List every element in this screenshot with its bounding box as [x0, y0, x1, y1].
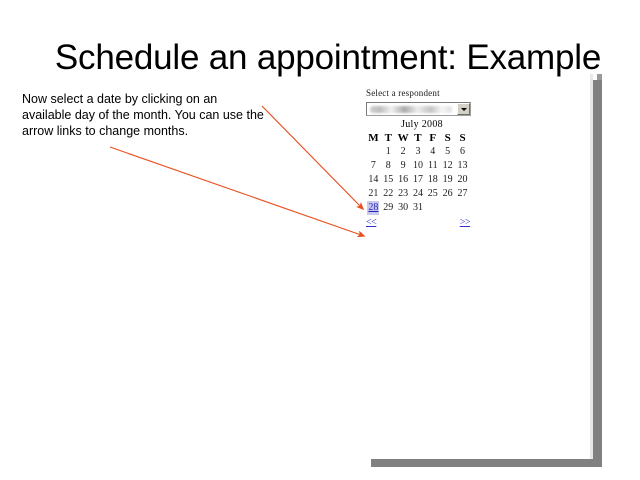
respondent-label: Select a respondent	[366, 88, 478, 99]
calendar-weekday-header: T	[411, 131, 426, 145]
calendar-weekday-header: F	[425, 131, 440, 145]
calendar-day-cell: 12	[440, 159, 455, 173]
calendar-day-cell: 22	[381, 187, 396, 201]
calendar-weekday-header: S	[440, 131, 455, 145]
calendar-day-cell: 17	[411, 173, 426, 187]
calendar-day-cell: 25	[425, 187, 440, 201]
calendar-weekday-header: S	[455, 131, 470, 145]
calendar-weekday-header: W	[396, 131, 411, 145]
page-shadow-right	[593, 80, 602, 466]
calendar-day-cell	[455, 201, 470, 215]
page-title: Schedule an appointment: Example	[28, 36, 628, 82]
calendar-day-cell: 15	[381, 173, 396, 187]
next-month-link[interactable]: >>	[460, 217, 470, 229]
instruction-text: Now select a date by clicking on an avai…	[22, 91, 270, 140]
calendar-day-cell: 23	[396, 187, 411, 201]
calendar-week-row: 14 15 16 17 18 19 20	[366, 173, 470, 187]
calendar-day-cell: 30	[396, 201, 411, 215]
calendar-day-link-selected[interactable]: 28	[367, 201, 379, 215]
calendar-day-cell: 19	[440, 173, 455, 187]
slide-canvas: Schedule an appointment: Example Now sel…	[0, 0, 640, 480]
calendar-weekday-row: M T W T F S S	[366, 131, 470, 145]
prev-month-link[interactable]: <<	[366, 217, 376, 229]
calendar-day-cell: 3	[411, 145, 426, 159]
page-edge-right	[590, 74, 593, 460]
calendar-day-cell: 13	[455, 159, 470, 173]
calendar-day-cell: 10	[411, 159, 426, 173]
calendar-day-cell: 20	[455, 173, 470, 187]
calendar-navigation: << >>	[366, 217, 470, 229]
calendar-day-cell: 24	[411, 187, 426, 201]
calendar-day-cell: 18	[425, 173, 440, 187]
calendar-table: M T W T F S S 1 2 3 4 5 6	[366, 131, 470, 215]
calendar-day-cell: 31	[411, 201, 426, 215]
calendar-weekday-header: T	[381, 131, 396, 145]
calendar-week-row: 21 22 23 24 25 26 27	[366, 187, 470, 201]
calendar-widget: Select a respondent July 2008 M T W T F …	[366, 88, 478, 229]
calendar-day-cell: 11	[425, 159, 440, 173]
annotation-arrow-to-days	[262, 106, 363, 209]
calendar-day-cell	[425, 201, 440, 215]
calendar-day-cell: 9	[396, 159, 411, 173]
calendar-day-cell: 1	[381, 145, 396, 159]
calendar-weekday-header: M	[366, 131, 381, 145]
calendar-month-title: July 2008	[366, 118, 478, 131]
calendar-week-row: 1 2 3 4 5 6	[366, 145, 470, 159]
calendar-day-cell: 2	[396, 145, 411, 159]
calendar-day-cell: 16	[396, 173, 411, 187]
calendar-day-cell: 7	[366, 159, 381, 173]
calendar-day-cell: 27	[455, 187, 470, 201]
calendar-day-cell: 4	[425, 145, 440, 159]
calendar-day-cell: 26	[440, 187, 455, 201]
calendar-week-row: 28 29 30 31	[366, 201, 470, 215]
calendar-day-cell: 29	[381, 201, 396, 215]
page-shadow-bottom	[371, 459, 602, 467]
calendar-day-cell: 14	[366, 173, 381, 187]
respondent-select[interactable]	[366, 102, 471, 116]
calendar-day-cell: 21	[366, 187, 381, 201]
respondent-select-value	[370, 106, 452, 113]
calendar-day-cell	[440, 201, 455, 215]
chevron-down-icon[interactable]	[457, 103, 470, 115]
calendar-day-cell: 6	[455, 145, 470, 159]
annotation-arrow-to-prev-month	[110, 147, 364, 236]
calendar-day-cell: 8	[381, 159, 396, 173]
calendar-day-cell	[366, 145, 381, 159]
calendar-day-cell-selected[interactable]: 28	[366, 201, 381, 215]
calendar-week-row: 7 8 9 10 11 12 13	[366, 159, 470, 173]
calendar-day-cell: 5	[440, 145, 455, 159]
